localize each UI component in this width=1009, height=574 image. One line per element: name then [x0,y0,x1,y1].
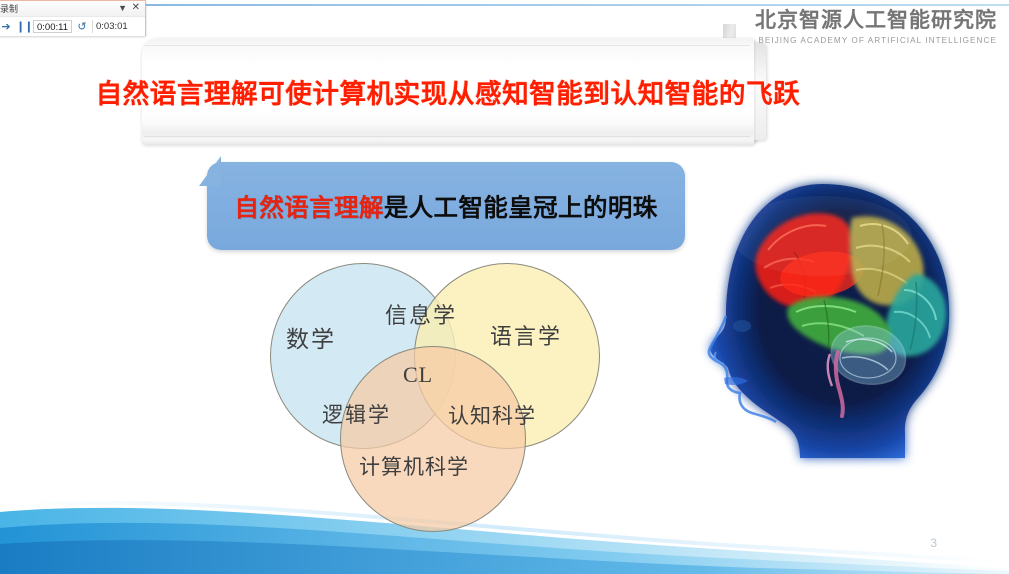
undo-icon[interactable]: ↺ [75,20,89,34]
callout-rest-text: 是人工智能皇冠上的明珠 [384,189,658,224]
slide-page-number: 3 [930,536,937,550]
close-icon[interactable]: ✕ [132,2,140,14]
brand-name-cn: 北京智源人工智能研究院 [755,8,997,33]
venn-label-mathematics: 数学 [286,320,336,354]
callout-highlight-text: 自然语言理解 [234,189,383,224]
recording-controls: ➔ ❙❙ 0:00:11 ↺ 0:03:01 [0,17,145,36]
recording-toolbar[interactable]: 录制 ▼ ✕ ➔ ❙❙ 0:00:11 ↺ 0:03:01 [0,0,146,36]
recording-elapsed-time: 0:00:11 [33,20,72,33]
arrow-right-icon[interactable]: ➔ [0,20,13,34]
recording-toolbar-title: 录制 [0,2,18,15]
title-ribbon: 自然语言理解可使计算机实现从感知智能到认知智能的飞跃 [142,38,766,145]
callout-bubble: 自然语言理解是人工智能皇冠上的明珠 [207,162,685,250]
venn-label-computer-science: 计算机科学 [359,451,469,481]
pause-icon[interactable]: ❙❙ [16,20,30,34]
slide-canvas: 3 北京智源人工智能研究院 BEIJING ACADEMY OF ARTIFIC… [0,0,1009,574]
callout-text: 自然语言理解是人工智能皇冠上的明珠 [207,162,685,250]
brand-name-en: BEIJING ACADEMY OF ARTIFICIAL INTELLIGEN… [755,34,997,47]
venn-label-logic: 逻辑学 [322,399,391,429]
chevron-down-icon[interactable]: ▼ [118,2,127,14]
brand-logo: 北京智源人工智能研究院 BEIJING ACADEMY OF ARTIFICIA… [755,8,997,47]
venn-label-linguistics: 语言学 [490,319,562,351]
recording-toolbar-titlebar: 录制 ▼ ✕ [0,1,145,17]
venn-label-information-science: 信息学 [385,298,457,330]
venn-label-cognitive-science: 认知科学 [448,400,536,430]
venn-diagram: 数学 语言学 计算机科学 信息学 逻辑学 认知科学 CL [268,258,618,510]
top-divider-rule [0,4,1009,6]
slide-title: 自然语言理解可使计算机实现从感知智能到认知智能的飞跃 [142,38,754,145]
recording-total-time: 0:03:01 [92,20,131,33]
human-head-brain-xray-illustration [672,166,1002,476]
venn-label-cl: CL [403,362,433,388]
